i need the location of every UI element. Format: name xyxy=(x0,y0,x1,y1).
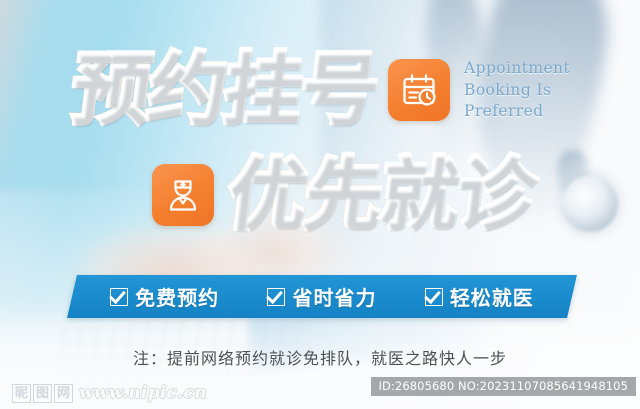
feature-label: 轻松就医 xyxy=(450,282,534,311)
english-tagline-line-3: Preferred xyxy=(464,101,570,122)
check-icon xyxy=(110,288,128,306)
check-icon xyxy=(425,288,443,306)
headline-line-1: 预约 挂号 xyxy=(72,52,570,128)
headline-word-yuyue: 预约 xyxy=(67,52,228,128)
feature-label: 免费预约 xyxy=(135,282,219,311)
feature-label: 省时省力 xyxy=(292,282,376,311)
watermark-url: www.nipic.cn xyxy=(79,383,207,403)
watermark-logo-char-3: 网 xyxy=(54,384,73,403)
note-text: 注：提前网络预约就诊免排队，就医之路快人一步 xyxy=(0,345,640,369)
check-icon xyxy=(267,288,285,306)
doctor-nurse-icon xyxy=(152,164,214,226)
feature-item-time-saving: 省时省力 xyxy=(267,282,376,311)
watermark-logo-char-2: 图 xyxy=(33,384,52,403)
feature-item-free-booking: 免费预约 xyxy=(110,282,219,311)
headline-word-youxian: 优先 xyxy=(223,157,384,233)
id-badge: ID:26805680 NO:20231107085641948105 xyxy=(371,377,636,396)
background-stethoscope-chestpiece xyxy=(562,176,618,232)
feature-item-easy-care: 轻松就医 xyxy=(425,282,534,311)
poster-banner: 预约 挂号 xyxy=(0,0,640,409)
headline-word-jiuzhen: 就诊 xyxy=(375,157,536,233)
headline-line-2: 优先 就诊 xyxy=(152,157,532,233)
calendar-clock-icon xyxy=(388,59,450,121)
watermark-logo-icon: 昵 图 网 xyxy=(12,384,73,403)
watermark-logo-char-1: 昵 xyxy=(12,384,31,403)
english-tagline-line-1: Appointment xyxy=(464,58,570,79)
watermark: 昵 图 网 www.nipic.cn xyxy=(12,383,207,403)
headline-word-guahao: 挂号 xyxy=(219,52,380,128)
feature-list: 免费预约 省时省力 轻松就医 xyxy=(72,275,572,318)
english-tagline-line-2: Booking Is xyxy=(464,80,570,101)
english-tagline: Appointment Booking Is Preferred xyxy=(464,58,570,122)
